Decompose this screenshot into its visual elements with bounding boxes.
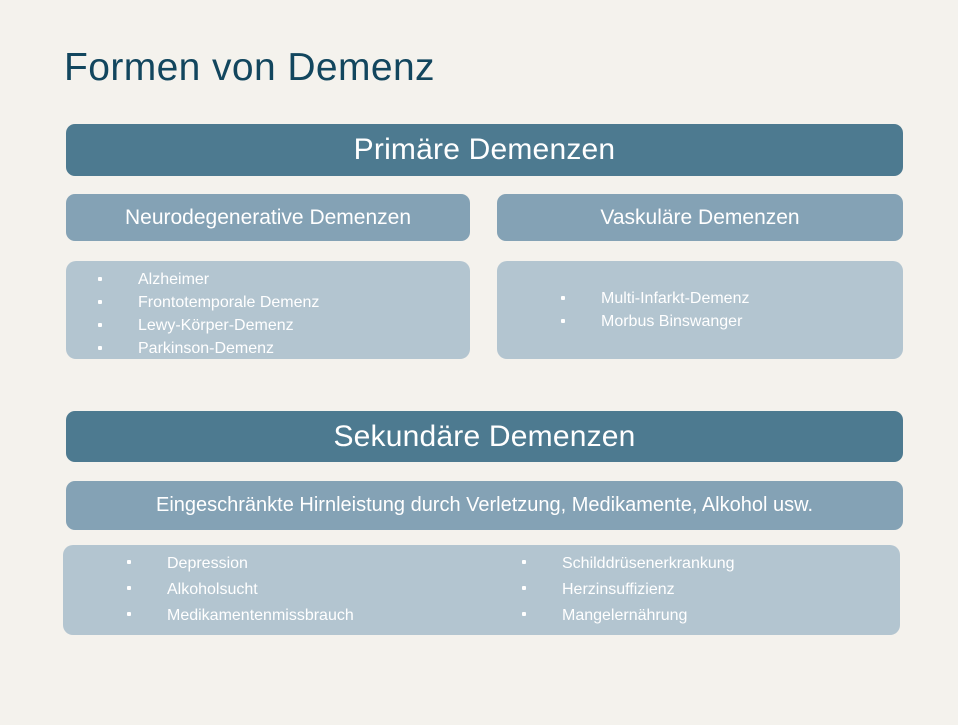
bullet-icon (127, 586, 131, 590)
list-item: Multi-Infarkt-Demenz (533, 287, 903, 310)
secondary-list-right-column: Schilddrüsenerkrankung Herzinsuffizienz … (520, 545, 900, 635)
page-title: Formen von Demenz (64, 44, 435, 92)
bullet-icon (127, 560, 131, 564)
list-item-label: Medikamentenmissbrauch (167, 607, 354, 624)
secondary-list-right: Schilddrüsenerkrankung Herzinsuffizienz … (520, 551, 900, 629)
slide-canvas: Formen von Demenz Primäre Demenzen Neuro… (0, 0, 958, 725)
secondary-list-left: Depression Alkoholsucht Medikamentenmiss… (63, 551, 520, 629)
list-item-label: Mangelernährung (562, 607, 687, 624)
neurodegenerative-list: Alzheimer Frontotemporale Demenz Lewy-Kö… (66, 261, 470, 360)
neurodegenerative-dementias-header: Neurodegenerative Demenzen (66, 194, 470, 241)
bullet-icon (98, 346, 102, 350)
list-item: Lewy-Körper-Demenz (70, 314, 470, 337)
list-item-label: Frontotemporale Demenz (138, 294, 319, 311)
bullet-icon (522, 560, 526, 564)
list-item: Herzinsuffizienz (520, 577, 900, 603)
list-item: Medikamentenmissbrauch (99, 603, 520, 629)
bullet-icon (127, 612, 131, 616)
list-item-label: Depression (167, 555, 248, 572)
list-item-label: Lewy-Körper-Demenz (138, 317, 294, 334)
list-item: Mangelernährung (520, 603, 900, 629)
vascular-list-wrapper: Multi-Infarkt-Demenz Morbus Binswanger (497, 261, 903, 359)
list-item-label: Multi-Infarkt-Demenz (601, 290, 749, 307)
list-item: Parkinson-Demenz (70, 337, 470, 360)
bullet-icon (522, 586, 526, 590)
secondary-dementias-header: Sekundäre Demenzen (66, 411, 903, 462)
list-item-label: Parkinson-Demenz (138, 340, 274, 357)
list-item: Schilddrüsenerkrankung (520, 551, 900, 577)
bullet-icon (98, 300, 102, 304)
secondary-dementias-list-panel: Depression Alkoholsucht Medikamentenmiss… (63, 545, 900, 635)
bullet-icon (561, 296, 565, 300)
bullet-icon (98, 277, 102, 281)
primary-dementias-header: Primäre Demenzen (66, 124, 903, 176)
bullet-icon (522, 612, 526, 616)
list-item: Alkoholsucht (99, 577, 520, 603)
vascular-list: Multi-Infarkt-Demenz Morbus Binswanger (533, 287, 903, 333)
list-item: Morbus Binswanger (533, 310, 903, 333)
list-item: Alzheimer (70, 268, 470, 291)
list-item-label: Herzinsuffizienz (562, 581, 675, 598)
list-item-label: Alzheimer (138, 271, 209, 288)
vascular-dementias-header: Vaskuläre Demenzen (497, 194, 903, 241)
list-item: Depression (99, 551, 520, 577)
vascular-dementias-list-panel: Multi-Infarkt-Demenz Morbus Binswanger (497, 261, 903, 359)
list-item-label: Schilddrüsenerkrankung (562, 555, 735, 572)
list-item-label: Morbus Binswanger (601, 313, 742, 330)
secondary-dementias-subtitle: Eingeschränkte Hirnleistung durch Verlet… (66, 481, 903, 530)
bullet-icon (561, 319, 565, 323)
list-item-label: Alkoholsucht (167, 581, 258, 598)
secondary-list-left-column: Depression Alkoholsucht Medikamentenmiss… (63, 545, 520, 635)
neurodegenerative-dementias-list-panel: Alzheimer Frontotemporale Demenz Lewy-Kö… (66, 261, 470, 359)
list-item: Frontotemporale Demenz (70, 291, 470, 314)
bullet-icon (98, 323, 102, 327)
